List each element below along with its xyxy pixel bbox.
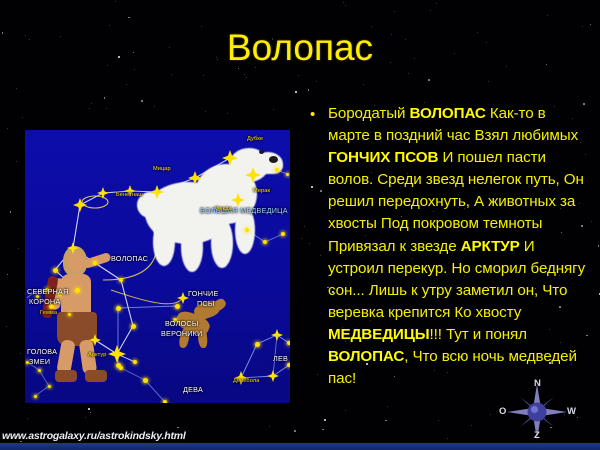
- chart-label: ГОЛОВА: [27, 348, 57, 356]
- compass-south-label: Z: [534, 430, 540, 441]
- chart-label: ПСЫ: [197, 300, 214, 308]
- presentation-slide: Волопас: [0, 0, 600, 450]
- chart-label: ЛЕВ: [273, 355, 288, 363]
- chart-label: ГОНЧИЕ: [188, 290, 219, 298]
- chart-label: Гемма: [40, 310, 57, 317]
- chart-label: ВОЛОСЫ: [165, 320, 198, 328]
- body-text-block: • Бородатый ВОЛОПАС Как-то в марте в поз…: [310, 103, 590, 390]
- bottom-accent-bar: [0, 443, 600, 450]
- chart-label: Денебола: [233, 378, 259, 385]
- chart-label: БОЛЬШАЯ МЕДВЕДИЦА: [200, 207, 288, 215]
- chart-label: Арктур: [88, 352, 106, 359]
- star-chart-image: БОЛЬШАЯ МЕДВЕДИЦАВОЛОПАСГОНЧИЕПСЫВОЛОСЫВ…: [25, 130, 290, 403]
- chart-label: Мицар: [153, 166, 171, 173]
- chart-label: ДЕВА: [183, 386, 203, 394]
- poem-text: Бородатый ВОЛОПАС Как-то в марте в поздн…: [328, 103, 590, 390]
- chart-label: Мерак: [253, 188, 270, 195]
- compass-west-label: W: [567, 406, 576, 417]
- compass-rose: N O W Z: [498, 380, 576, 444]
- bullet-marker: •: [310, 103, 328, 126]
- compass-east-label: O: [499, 406, 506, 417]
- chart-label: Бенетнаш: [116, 192, 143, 199]
- chart-label: ВОЛОПАС: [111, 255, 148, 263]
- compass-north-label: N: [534, 378, 541, 389]
- chart-label: ВЕРОНИКИ: [161, 330, 203, 338]
- slide-title: Волопас: [0, 26, 600, 70]
- chart-label: ЗМЕИ: [29, 358, 50, 366]
- chart-label: СЕВЕРНАЯ: [27, 288, 69, 296]
- chart-label: Дубхе: [247, 136, 263, 143]
- chart-label: КОРОНА: [29, 298, 60, 306]
- chart-label: Фекда: [215, 206, 232, 213]
- source-url-caption: www.astrogalaxy.ru/astrokindsky.html: [2, 430, 186, 442]
